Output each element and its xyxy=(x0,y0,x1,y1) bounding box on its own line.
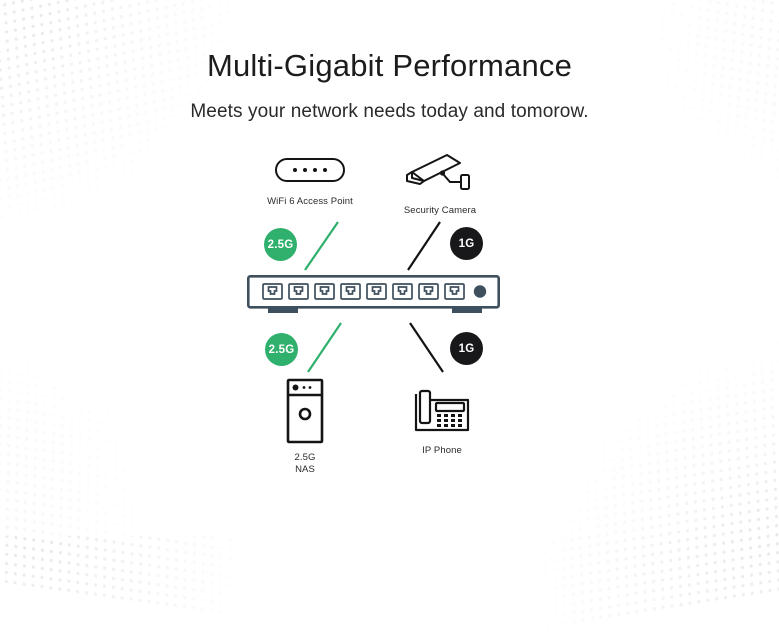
device-label-nas: 2.5G NAS xyxy=(258,452,352,476)
ip-phone-icon xyxy=(412,388,472,436)
nas-tower-icon xyxy=(281,378,329,444)
network-diagram: WiFi 6 Access Point Security Camera xyxy=(0,0,779,536)
network-switch[interactable] xyxy=(247,275,500,313)
link-switch-to-ap xyxy=(305,222,338,270)
switch-status-indicator xyxy=(474,285,486,297)
speed-badge-access-point: 2.5G xyxy=(264,228,297,261)
link-switch-to-nas xyxy=(308,323,341,372)
security-camera-icon xyxy=(403,150,477,196)
speed-badge-security-camera: 1G xyxy=(450,227,483,260)
link-switch-to-phone xyxy=(410,323,443,372)
link-switch-to-camera xyxy=(408,222,440,270)
connection-lines xyxy=(0,0,779,536)
device-node-ip-phone[interactable]: IP Phone xyxy=(396,388,488,457)
device-node-nas[interactable]: 2.5G NAS xyxy=(258,378,352,476)
device-node-access-point[interactable]: WiFi 6 Access Point xyxy=(246,158,374,208)
speed-badge-nas: 2.5G xyxy=(265,333,298,366)
device-label-access-point: WiFi 6 Access Point xyxy=(246,196,374,208)
wifi-access-point-icon xyxy=(275,158,345,182)
device-label-ip-phone: IP Phone xyxy=(396,445,488,457)
device-label-security-camera: Security Camera xyxy=(386,205,494,217)
speed-badge-ip-phone: 1G xyxy=(450,332,483,365)
device-node-security-camera[interactable]: Security Camera xyxy=(386,150,494,217)
